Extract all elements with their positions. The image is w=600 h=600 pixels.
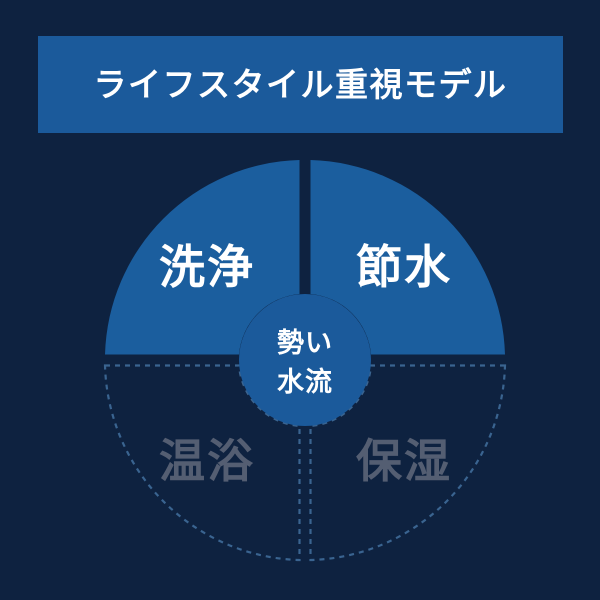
hub-circle[interactable]	[239, 294, 371, 426]
segment-label-sensen: 洗浄	[159, 241, 255, 293]
hub-label-line1: 勢い	[277, 328, 333, 358]
segment-label-hoshitsu: 保湿	[356, 435, 452, 487]
hub-label-line2: 水流	[277, 367, 333, 397]
quadrant-donut-diagram: 洗浄 節水 温浴 保湿 勢い 水流	[0, 0, 600, 600]
segment-label-sessui: 節水	[356, 241, 452, 293]
segment-label-onyoku: 温浴	[159, 435, 255, 487]
infographic-canvas: ライフスタイル重視モデル 洗浄 節水 温浴 保湿 勢い 水流	[0, 0, 600, 600]
